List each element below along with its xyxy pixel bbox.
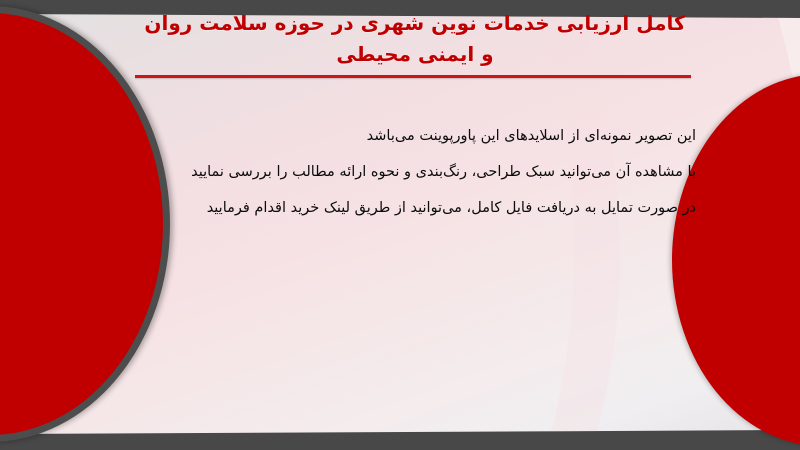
body-line-2: با مشاهده آن می‌توانید سبک طراحی، رنگ‌بن…: [130, 154, 696, 190]
slide-title-line-1: کامل ارزیابی خدمات نوین شهری در حوزه سلا…: [135, 8, 695, 39]
slide-body-text: این تصویر نمونه‌ای از اسلایدهای این پاور…: [130, 118, 696, 226]
body-line-1: این تصویر نمونه‌ای از اسلایدهای این پاور…: [130, 118, 696, 154]
title-underline-rule: [135, 75, 691, 78]
slide-canvas: کامل ارزیابی خدمات نوین شهری در حوزه سلا…: [0, 0, 800, 450]
slide-title-line-2: و ایمنی محیطی: [135, 39, 695, 70]
slide-title: کامل ارزیابی خدمات نوین شهری در حوزه سلا…: [135, 8, 695, 70]
body-line-3: در صورت تمایل به دریافت فایل کامل، می‌تو…: [130, 190, 696, 226]
